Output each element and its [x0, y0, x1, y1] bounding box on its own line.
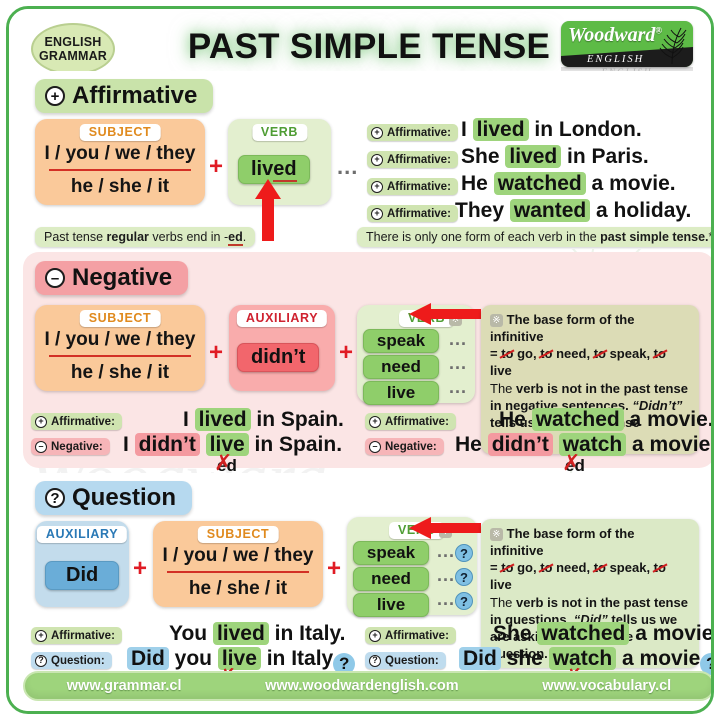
neg-ex2-hl: watched	[532, 408, 624, 431]
neg-ex0-hl: lived	[195, 408, 251, 431]
negative-subject-row-1: I / you / we / they	[35, 329, 205, 355]
question-circle-icon: ?	[45, 488, 65, 508]
negative-verb-2: live	[363, 381, 439, 405]
strike-to-0: to	[501, 559, 513, 576]
left-arrow-icon	[409, 517, 481, 539]
q-ex0-pre: You	[169, 622, 213, 645]
neg-ex3-mid	[553, 433, 559, 456]
q-l3-verb: verb	[516, 595, 543, 610]
negative-dots-2: ...	[449, 377, 467, 398]
affirmative-example-tag-0: + Affirmative:	[367, 124, 458, 141]
negative-example-2: He watched a movie.	[499, 408, 711, 432]
example-1-post: in Paris.	[561, 145, 649, 168]
affirmative-example-2: He watched a movie.	[461, 172, 676, 196]
neg-ex1-hl1: didn’t	[135, 433, 200, 456]
section-tag-affirmative[interactable]: + Affirmative	[35, 79, 213, 113]
negative-verb-0: speak	[363, 329, 439, 353]
left-arrow-icon	[409, 303, 481, 325]
affirmative-example-tag-3: + Affirmative:	[367, 205, 458, 222]
negative-auxiliary-label: AUXILIARY	[237, 310, 327, 327]
question-example-0: You lived in Italy.	[169, 622, 345, 646]
inner-canvas: Woodward ENGLISH Woodward ENGLISH	[9, 9, 711, 711]
plus-circle-small-icon: +	[371, 181, 383, 193]
note-right-star: *	[709, 230, 711, 244]
negative-subject-label: SUBJECT	[80, 310, 161, 327]
up-arrow-icon	[255, 179, 281, 241]
logo-box: Woodward® ENGLISH	[561, 21, 693, 67]
question-mark-icon-1: ?	[455, 568, 473, 586]
question-explain-line-3: The verb is not in the past tense	[490, 594, 690, 611]
neg-l3-verb: verb	[516, 381, 543, 396]
neg-ex1-mid	[200, 433, 206, 456]
question-example-tag-label-3: Question:	[385, 655, 439, 667]
negative-dots-1: ...	[449, 353, 467, 374]
affirmative-example-1: She lived in Paris.	[461, 145, 649, 169]
question-dots-1: ...	[437, 565, 455, 586]
section-tag-question-label: Question	[72, 484, 176, 512]
logo-wordmark: Woodward®	[568, 24, 662, 47]
q-ex1-post: in Italy	[261, 647, 333, 670]
question-example-tag-2: + Affirmative:	[365, 627, 456, 644]
plus-circle-small-icon: +	[369, 416, 381, 428]
negative-explain-line-3: The verb is not in the past tense	[490, 380, 690, 397]
minus-circle-small-icon: –	[369, 441, 381, 453]
logo-subtitle: ENGLISH	[587, 54, 644, 65]
negative-auxiliary-box: AUXILIARY didn’t	[229, 305, 335, 391]
question-explain-text-1: The base form of the infinitive	[490, 526, 634, 558]
section-tag-negative[interactable]: – Negative	[35, 261, 188, 295]
note-left-bold: regular	[107, 230, 149, 244]
negative-dots-0: ...	[449, 329, 467, 350]
q-ex3-hl1: Did	[459, 647, 501, 670]
strike-to-0: to	[501, 345, 513, 362]
strike-to-3: to	[654, 559, 666, 576]
subject-divider	[167, 571, 309, 573]
neg-ex0-post: in Spain.	[251, 408, 344, 431]
example-3-highlight: wanted	[510, 199, 590, 222]
affirmative-example-0: I lived in London.	[461, 118, 642, 142]
note-left-ed: ed	[228, 230, 243, 246]
question-dots-2: ...	[437, 589, 455, 610]
q-ex3-hl2: watch	[549, 647, 617, 670]
plus-circle-small-icon: +	[371, 154, 383, 166]
affirmative-example-tag-1: + Affirmative:	[367, 151, 458, 168]
negative-subject-rows: I / you / we / they he / she / it	[35, 329, 205, 384]
example-2-highlight: watched	[494, 172, 586, 195]
negative-verb-list: speak need live	[363, 329, 439, 405]
question-subject-rows: I / you / we / they he / she / it	[153, 545, 323, 600]
plus-circle-small-icon: +	[369, 630, 381, 642]
example-3-pre: They	[455, 199, 510, 222]
negative-explain-line-1: ※ The base form of the infinitive	[490, 311, 690, 345]
example-0-pre: I	[461, 118, 473, 141]
question-subject-row-2: he / she / it	[153, 578, 323, 600]
note-right-bold: past simple tense.	[600, 230, 708, 244]
question-mark-icon-2: ?	[455, 592, 473, 610]
negative-subject-box: SUBJECT I / you / we / they he / she / i…	[35, 305, 205, 391]
affirmative-example-3: They wanted a holiday.	[455, 199, 691, 223]
note-right-pre: There is only one form of each verb in t…	[366, 230, 600, 244]
logo-fern-icon	[655, 23, 689, 65]
example-0-highlight: lived	[473, 118, 529, 141]
question-example-tag-label-1: Question:	[51, 655, 105, 667]
q-ex1-hl1: Did	[127, 647, 169, 670]
logo-word-text: Woodward	[568, 24, 655, 46]
note-left-mid: verbs end in -	[149, 230, 228, 244]
section-tag-affirmative-label: Affirmative	[72, 82, 197, 110]
strike-to-2: to	[594, 345, 606, 362]
affirmative-example-tag-label-0: Affirmative:	[387, 127, 451, 139]
negative-example-tag-label-1: Negative:	[51, 441, 103, 453]
q-l3b: is not in the past tense	[543, 595, 687, 610]
strike-to-1: to	[540, 345, 552, 362]
question-subject-box: SUBJECT I / you / we / they he / she / i…	[153, 521, 323, 607]
asterisk-marker-icon: ※	[490, 314, 503, 327]
plus-circle-small-icon: +	[371, 127, 383, 139]
affirmative-example-tag-2: + Affirmative:	[367, 178, 458, 195]
negative-example-tag-label-0: Affirmative:	[51, 416, 115, 428]
neg-ex1-post: in Spain.	[249, 433, 342, 456]
negative-example-tag-1: – Negative:	[31, 438, 110, 455]
question-plus-1: +	[133, 555, 147, 583]
affirmative-plus-1: +	[209, 153, 223, 181]
affirmative-subject-rows: I / you / we / they he / she / it	[35, 143, 205, 198]
negative-example-3: He didn’t watch a movie.	[455, 433, 711, 457]
affirmative-verb-label: VERB	[252, 124, 307, 141]
example-2-pre: He	[461, 172, 494, 195]
question-subject-row-1: I / you / we / they	[153, 545, 323, 571]
plus-circle-small-icon: +	[371, 208, 383, 220]
verb-chip-stem: liv	[251, 158, 273, 180]
q-ex0-hl: lived	[213, 622, 269, 645]
affirmative-example-tag-label-2: Affirmative:	[387, 181, 451, 193]
infographic-page: Woodward ENGLISH Woodward ENGLISH	[0, 0, 720, 720]
affirmative-subject-row-2: he / she / it	[35, 176, 205, 198]
q-ex2-hl: watched	[537, 622, 629, 645]
negative-example-tag-label-3: Negative:	[385, 441, 437, 453]
note-left-pre: Past tense	[44, 230, 107, 244]
q-ex3-mid: she	[501, 647, 549, 670]
question-plus-2: +	[327, 555, 341, 583]
footer-link-woodwardenglish[interactable]: www.woodwardenglish.com	[265, 678, 459, 694]
note-left-end: .	[243, 230, 246, 244]
example-2-post: a movie.	[586, 172, 676, 195]
section-tag-question[interactable]: ? Question	[35, 481, 192, 515]
neg-l3b: is not in the past tense	[543, 381, 687, 396]
negative-example-1: I didn’t live in Spain.	[123, 433, 342, 457]
subject-divider	[49, 169, 191, 171]
question-example-2: She watched a movie.	[493, 622, 711, 646]
q-ex1-mid: you	[169, 647, 218, 670]
question-verb-1: need	[353, 567, 429, 591]
example-0-post: in London.	[529, 118, 642, 141]
asterisk-marker-icon: ※	[490, 528, 503, 541]
plus-circle-small-icon: +	[35, 630, 47, 642]
negative-example-0: I lived in Spain.	[183, 408, 344, 432]
footer-bar: www.grammar.cl www.woodwardenglish.com w…	[23, 671, 711, 701]
question-example-tag-1: ? Question:	[31, 652, 112, 669]
affirmative-subject-box: SUBJECT I / you / we / they he / she / i…	[35, 119, 205, 205]
neg-ex2-post: a movie.	[624, 408, 711, 431]
question-example-tag-label-2: Affirmative:	[385, 630, 449, 642]
question-example-tag-3: ? Question:	[365, 652, 446, 669]
plus-circle-icon: +	[45, 86, 65, 106]
minus-circle-small-icon: –	[35, 441, 47, 453]
neg-ex2-pre: He	[499, 408, 532, 431]
negative-example-tag-label-2: Affirmative:	[385, 416, 449, 428]
affirmative-note-left: Past tense regular verbs end in -ed.	[35, 227, 255, 247]
q-ex0-post: in Italy.	[269, 622, 346, 645]
question-auxiliary-chip: Did	[45, 561, 119, 590]
subject-divider	[49, 355, 191, 357]
negative-auxiliary-chip: didn’t	[237, 343, 319, 372]
affirmative-example-tag-label-1: Affirmative:	[387, 154, 451, 166]
negative-explain-text-1: The base form of the infinitive	[490, 312, 634, 344]
q-ex2-pre: She	[493, 622, 537, 645]
question-mark-icon-0: ?	[455, 544, 473, 562]
footer-link-vocabulary[interactable]: www.vocabulary.cl	[542, 678, 671, 694]
question-circle-small-icon: ?	[35, 655, 47, 667]
neg-l3a: The	[490, 381, 516, 396]
question-verb-list: speak need live	[353, 541, 429, 617]
question-circle-small-icon: ?	[369, 655, 381, 667]
affirmative-dots: ...	[337, 154, 358, 180]
negative-example-tag-3: – Negative:	[365, 438, 444, 455]
section-tag-negative-label: Negative	[72, 264, 172, 292]
strike-to-3: to	[654, 345, 666, 362]
negative-example-tag-0: + Affirmative:	[31, 413, 122, 430]
affirmative-note-right: There is only one form of each verb in t…	[357, 227, 711, 247]
did-chip: Did	[45, 561, 119, 590]
strike-to-2: to	[594, 559, 606, 576]
example-1-highlight: lived	[505, 145, 561, 168]
question-verb-0: speak	[353, 541, 429, 565]
negative-explain-eq: =	[490, 346, 498, 361]
minus-circle-icon: –	[45, 268, 65, 288]
q-ex3-post: a movie	[616, 647, 700, 670]
negative-subject-row-2: he / she / it	[35, 362, 205, 384]
neg-ex3-hl1: didn’t	[488, 433, 553, 456]
affirmative-subject-row-1: I / you / we / they	[35, 143, 205, 169]
negative-explain-line-2: = to go, to need, to speak, to live	[490, 345, 690, 379]
question-auxiliary-box: AUXILIARY Did	[35, 521, 129, 607]
question-auxiliary-label: AUXILIARY	[37, 526, 127, 543]
example-1-pre: She	[461, 145, 505, 168]
question-dots-0: ...	[437, 541, 455, 562]
neg-ex0-pre: I	[183, 408, 195, 431]
negative-verb-1: need	[363, 355, 439, 379]
neg-ex1-pre: I	[123, 433, 135, 456]
example-3-post: a holiday.	[590, 199, 691, 222]
negative-example-tag-2: + Affirmative:	[365, 413, 456, 430]
negative-plus-2: +	[339, 339, 353, 367]
strike-to-1: to	[540, 559, 552, 576]
question-example-tag-0: + Affirmative:	[31, 627, 122, 644]
question-explain-line-2: = to go, to need, to speak, to live	[490, 559, 690, 593]
didnt-chip: didn’t	[237, 343, 319, 372]
question-explain-line-1: ※ The base form of the infinitive	[490, 525, 690, 559]
question-example-tag-label-0: Affirmative:	[51, 630, 115, 642]
affirmative-example-tag-label-3: Affirmative:	[387, 208, 451, 220]
neg-ex3-pre: He	[455, 433, 488, 456]
question-subject-label: SUBJECT	[198, 526, 279, 543]
affirmative-subject-label: SUBJECT	[80, 124, 161, 141]
footer-link-grammar[interactable]: www.grammar.cl	[67, 678, 182, 694]
neg-ex3-post: a movie.	[626, 433, 711, 456]
negative-plus-1: +	[209, 339, 223, 367]
q-l3a: The	[490, 595, 516, 610]
plus-circle-small-icon: +	[35, 416, 47, 428]
q-ex2-post: a movie.	[629, 622, 711, 645]
question-explain-eq: =	[490, 560, 498, 575]
question-verb-2: live	[353, 593, 429, 617]
